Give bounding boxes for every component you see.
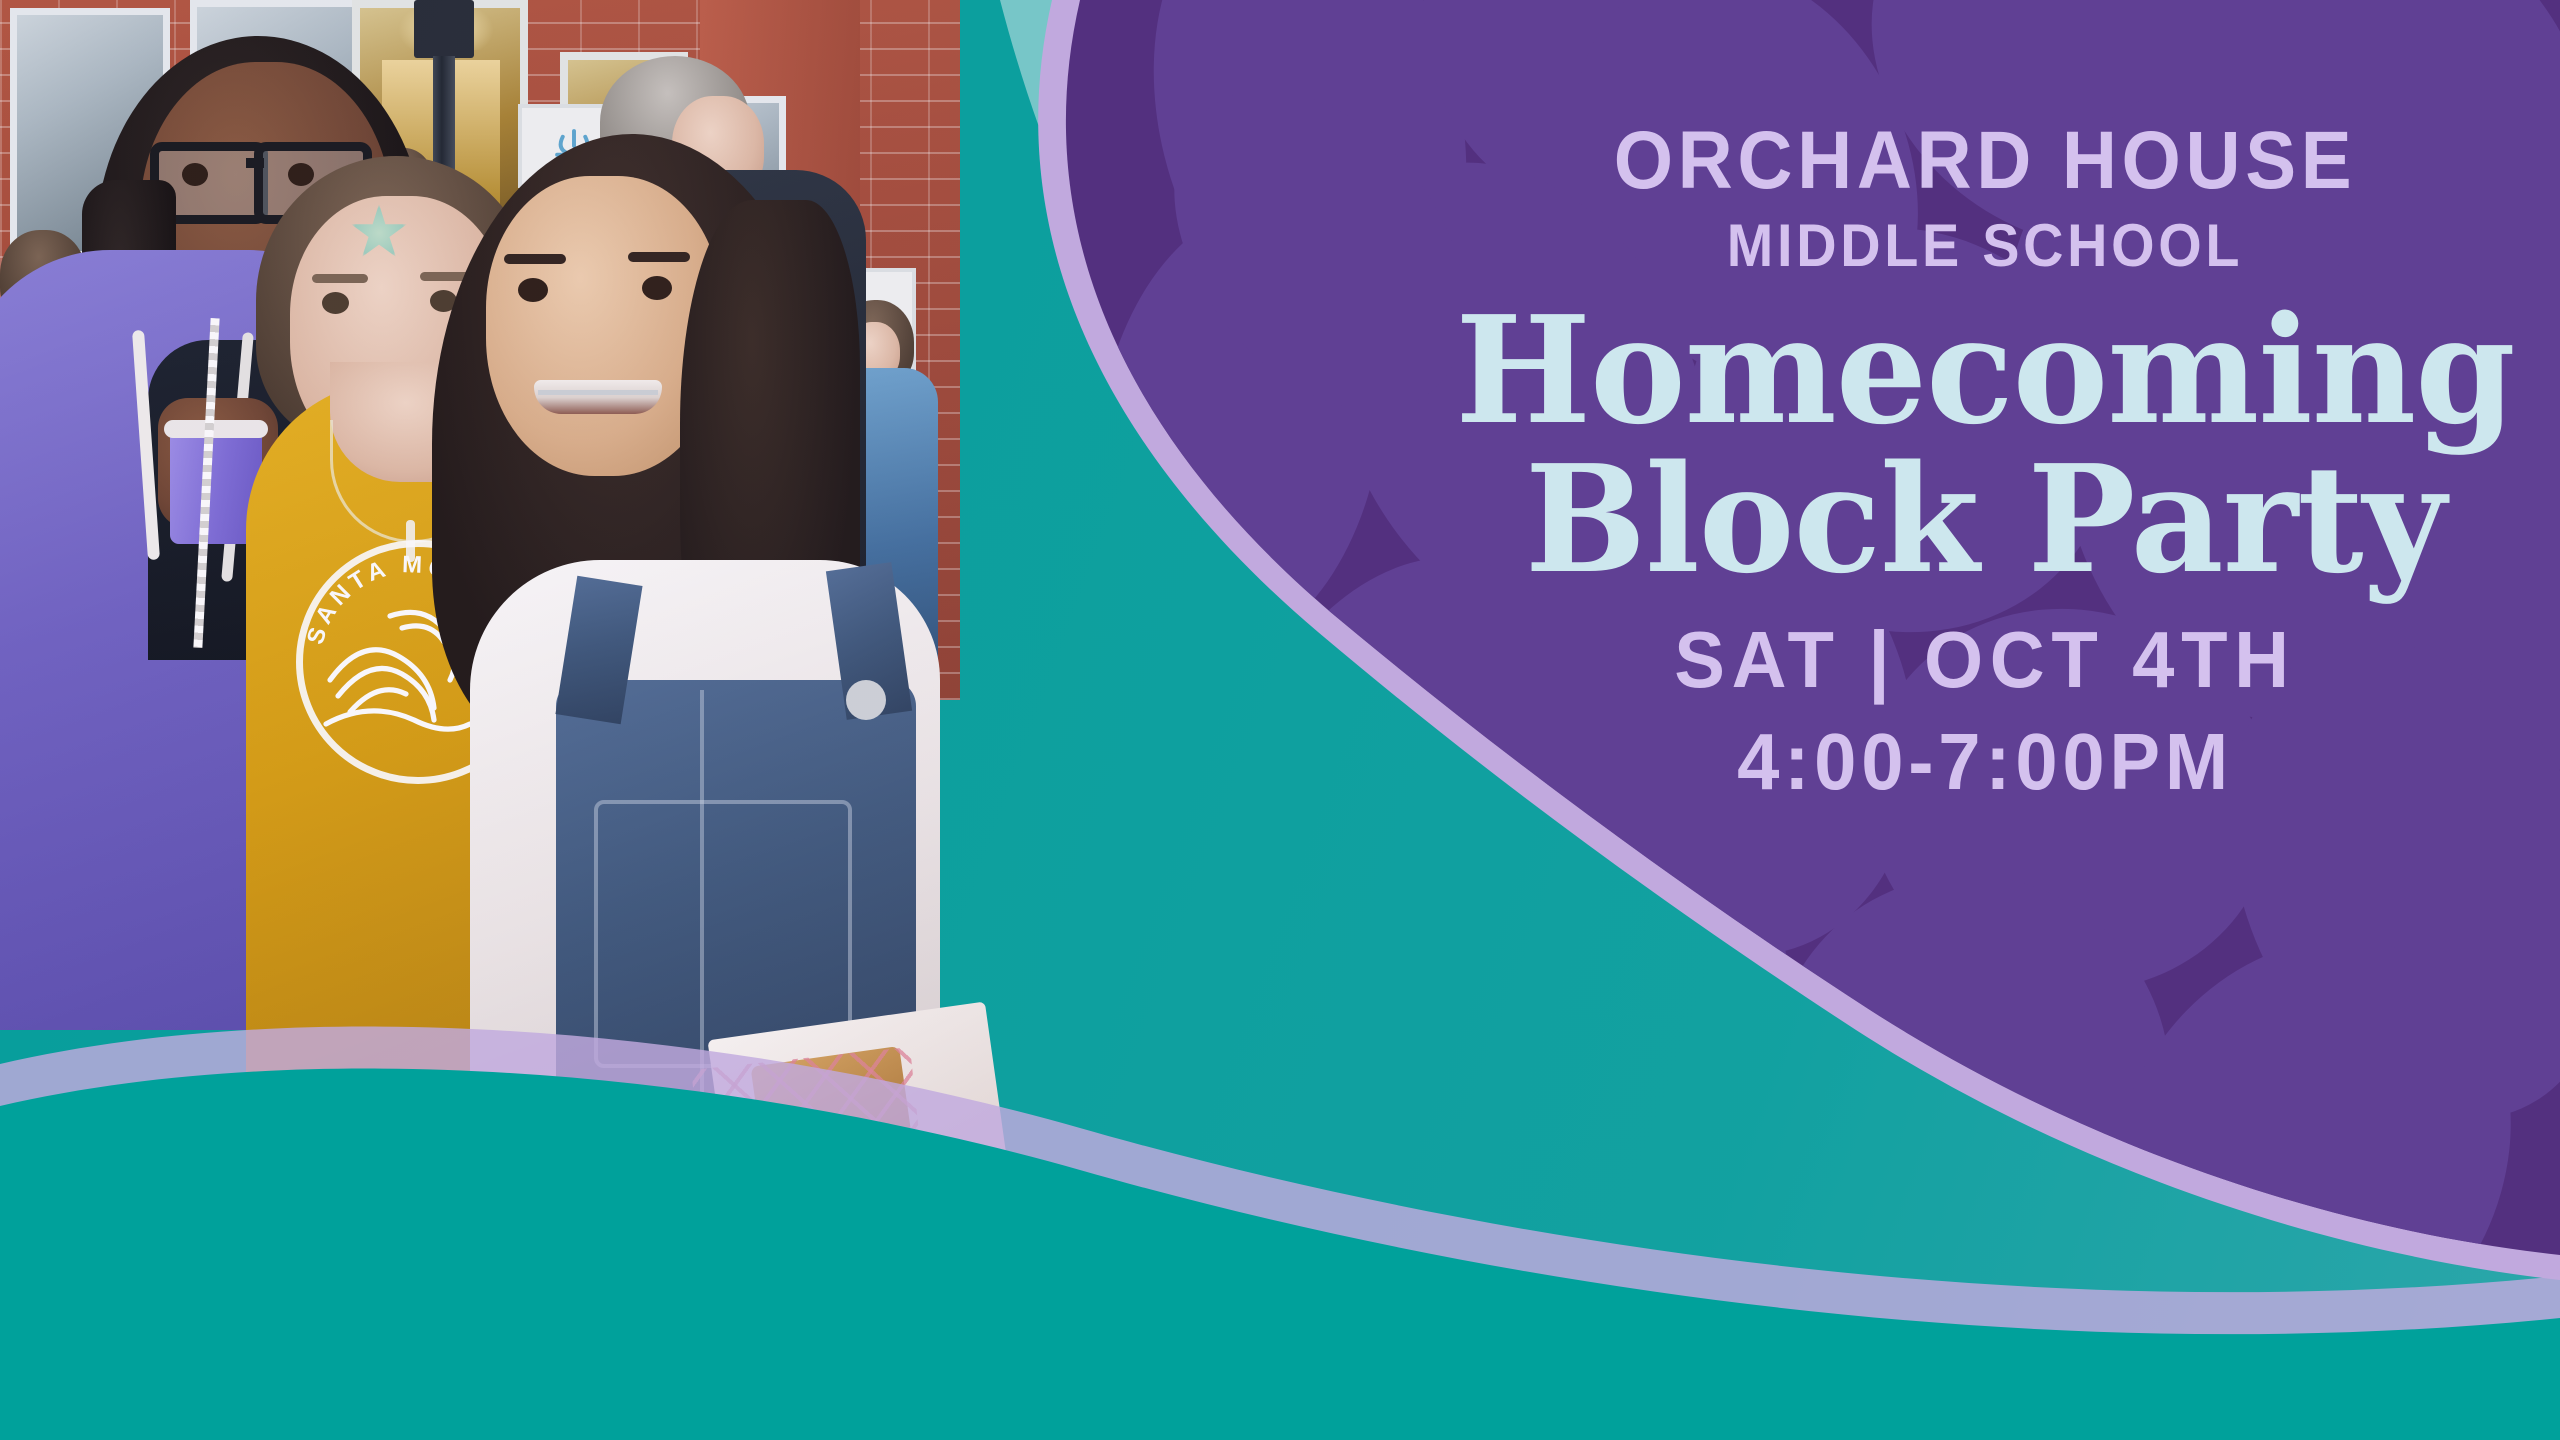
poster-text-block: ORCHARD HOUSE MIDDLE SCHOOL Homecoming B… xyxy=(1430,120,2540,802)
school-name-line1: ORCHARD HOUSE xyxy=(1469,120,2501,202)
event-time: 4:00-7:00PM xyxy=(1458,722,2513,802)
event-date: SAT | OCT 4TH xyxy=(1458,620,2513,700)
event-headline: Homecoming Block Party xyxy=(1447,298,2524,592)
event-headline-line1: Homecoming xyxy=(1455,283,2514,457)
event-headline-line2: Block Party xyxy=(1447,447,2524,592)
event-flyer-poster: SANTA MONICA xyxy=(0,0,2560,1440)
school-name-line2: MIDDLE SCHOOL xyxy=(1469,216,2501,276)
